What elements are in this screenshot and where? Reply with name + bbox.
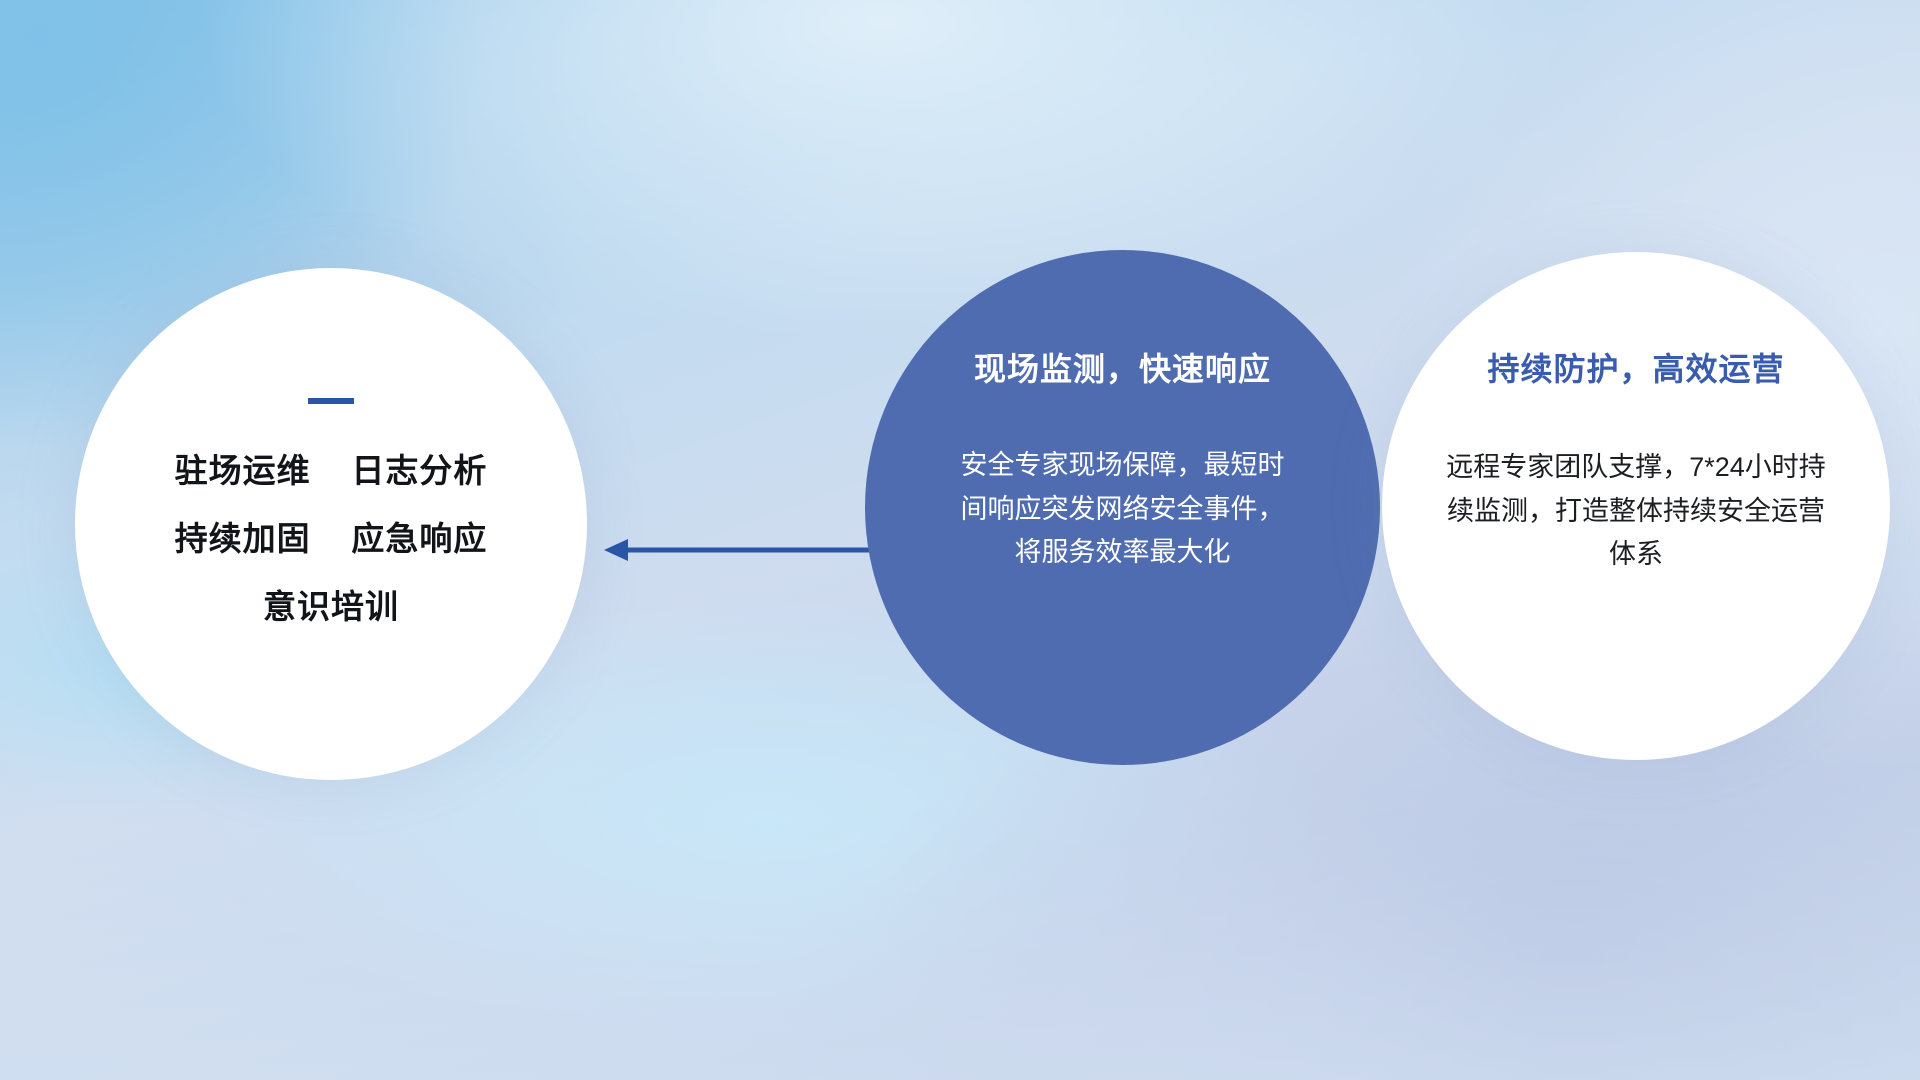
list-item: 持续加固 应急响应 (175, 522, 488, 555)
right-continuous-protection-circle: 持续防护，高效运营 远程专家团队支撑，7*24小时持续监测，打造整体持续安全运营… (1382, 252, 1890, 760)
list-item: 驻场运维 日志分析 (175, 454, 488, 487)
horizontal-dash-icon (308, 398, 354, 404)
arrow-left-icon (600, 528, 900, 572)
left-capability-circle: 驻场运维 日志分析 持续加固 应急响应 意识培训 (75, 268, 587, 780)
right-circle-body: 远程专家团队支撑，7*24小时持续监测，打造整体持续安全运营体系 (1441, 446, 1831, 577)
slide-canvas: 驻场运维 日志分析 持续加固 应急响应 意识培训 现场监测，快速响应 安全专家现… (0, 0, 1920, 1080)
left-capability-list: 驻场运维 日志分析 持续加固 应急响应 意识培训 (175, 454, 488, 623)
list-item: 意识培训 (175, 590, 488, 623)
middle-circle-heading: 现场监测，快速响应 (974, 344, 1271, 390)
middle-circle-body: 安全专家现场保障，最短时间响应突发网络安全事件，将服务效率最大化 (953, 444, 1293, 575)
middle-onsite-monitoring-circle: 现场监测，快速响应 安全专家现场保障，最短时间响应突发网络安全事件，将服务效率最… (865, 250, 1380, 765)
right-circle-heading: 持续防护，高效运营 (1487, 344, 1784, 390)
